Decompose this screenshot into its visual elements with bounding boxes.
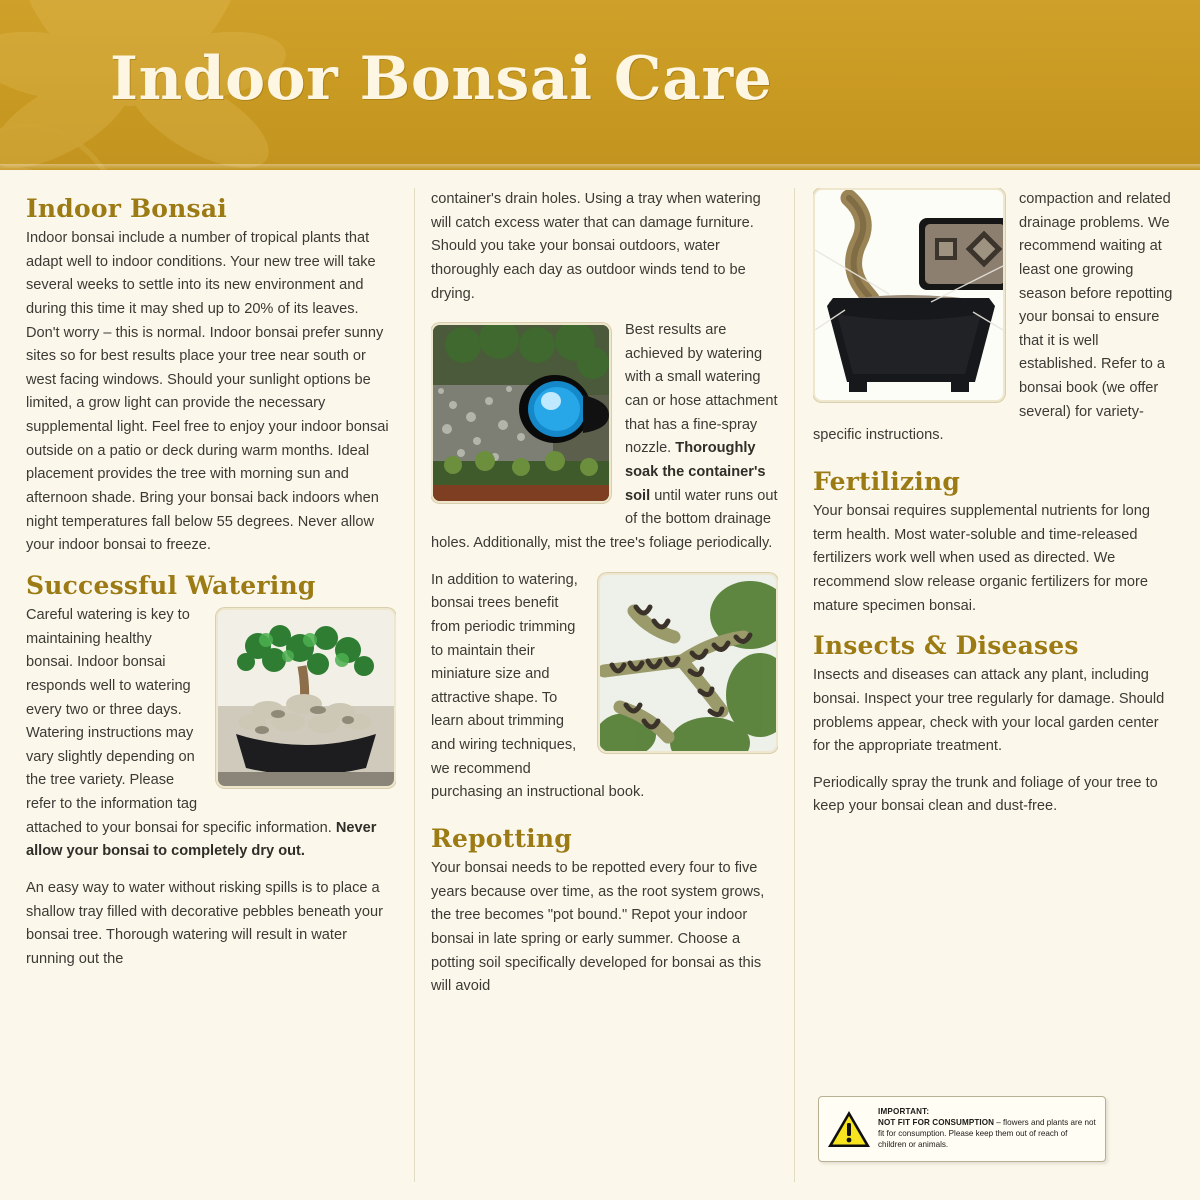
pot-flow-block: compaction and related drainage problems…: [813, 188, 1174, 461]
page-header: Indoor Bonsai Care: [0, 0, 1200, 170]
heading-repotting: Repotting: [431, 824, 778, 853]
warning-line-2: NOT FIT FOR CONSUMPTION: [878, 1118, 994, 1127]
watering-flow-block: Careful watering is key to maintaining h…: [26, 604, 396, 877]
column-right: compaction and related drainage problems…: [794, 188, 1174, 1182]
paragraph-repotting: Your bonsai needs to be repotted every f…: [431, 857, 778, 999]
paragraph-fertilizing: Your bonsai requires supplemental nutrie…: [813, 500, 1174, 618]
bonsai-pot-drainage-photo: [813, 188, 1005, 402]
column-middle: container's drain holes. Using a tray wh…: [414, 188, 794, 1182]
nozzle-flow-block: Best results are achieved by watering wi…: [431, 319, 778, 568]
page-content: Indoor Bonsai Indoor bonsai include a nu…: [0, 170, 1200, 1182]
trimming-flow-block: In addition to watering, bonsai trees be…: [431, 569, 778, 818]
best-results-lead: Best results are achieved by watering wi…: [625, 322, 778, 456]
paragraph-drain-holes: container's drain holes. Using a tray wh…: [431, 188, 778, 306]
paragraph-indoor-bonsai: Indoor bonsai include a number of tropic…: [26, 227, 396, 558]
pebble-tray-bonsai-photo: [216, 608, 396, 788]
heading-insects-diseases: Insects & Diseases: [813, 631, 1174, 660]
warning-line-1: IMPORTANT:: [878, 1107, 1097, 1118]
three-column-layout: Indoor Bonsai Indoor bonsai include a nu…: [26, 188, 1174, 1182]
bonsai-care-page: Indoor Bonsai Care Indoor Bonsai Indoor …: [0, 0, 1200, 1200]
warning-text: IMPORTANT: NOT FIT FOR CONSUMPTION – flo…: [878, 1107, 1097, 1150]
paragraph-insects-1: Insects and diseases can attack any plan…: [813, 664, 1174, 759]
paragraph-insects-2: Periodically spray the trunk and foliage…: [813, 772, 1174, 819]
paragraph-watering-tray: An easy way to water without risking spi…: [26, 877, 396, 972]
heading-successful-watering: Successful Watering: [26, 571, 396, 600]
heading-indoor-bonsai: Indoor Bonsai: [26, 194, 396, 223]
consumption-warning-box: IMPORTANT: NOT FIT FOR CONSUMPTION – flo…: [818, 1096, 1106, 1162]
warning-triangle-icon: [827, 1109, 871, 1149]
column-left: Indoor Bonsai Indoor bonsai include a nu…: [26, 188, 414, 1182]
wired-bonsai-branch-photo: [598, 573, 778, 753]
spray-nozzle-watering-photo: [431, 323, 611, 503]
heading-fertilizing: Fertilizing: [813, 467, 1174, 496]
page-title: Indoor Bonsai Care: [110, 44, 772, 114]
